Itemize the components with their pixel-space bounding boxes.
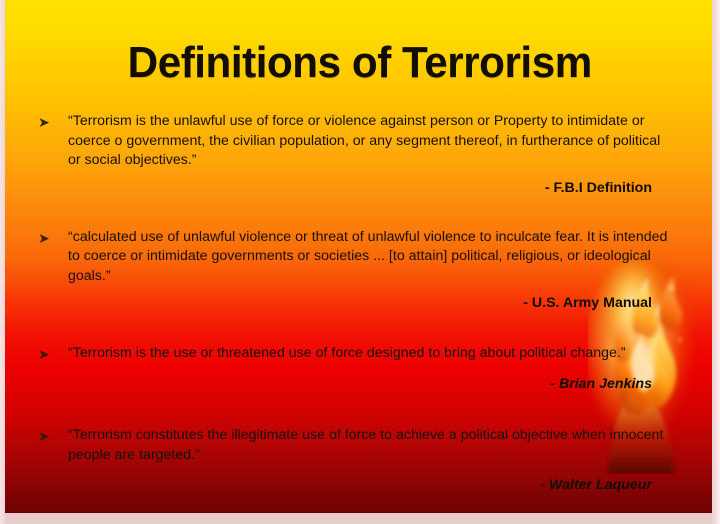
- bullet-arrow-icon: ➤: [38, 344, 68, 364]
- quote-attribution: - F.B.I Definition: [38, 179, 674, 198]
- bullet-arrow-icon: ➤: [38, 112, 68, 132]
- quote-attribution: - Walter Laqueur: [38, 476, 674, 495]
- quote-block: ➤ “Terrorism constitutes the illegitimat…: [38, 426, 674, 495]
- quote-row: ➤ “calculated use of unlawful violence o…: [38, 228, 674, 287]
- bullet-arrow-icon: ➤: [38, 228, 68, 248]
- slide-body: ➤ “Terrorism is the unlawful use of forc…: [38, 112, 674, 497]
- quote-row: ➤ “Terrorism constitutes the illegitimat…: [38, 426, 674, 465]
- quote-block: ➤ “Terrorism is the use or threatened us…: [38, 344, 674, 394]
- quote-row: ➤ “Terrorism is the unlawful use of forc…: [38, 112, 674, 171]
- quote-text: “calculated use of unlawful violence or …: [68, 228, 674, 287]
- quote-attribution: - Brian Jenkins: [38, 375, 674, 394]
- bullet-arrow-icon: ➤: [38, 426, 68, 446]
- quote-row: ➤ “Terrorism is the use or threatened us…: [38, 344, 674, 364]
- quote-block: ➤ “calculated use of unlawful violence o…: [38, 228, 674, 314]
- quote-text: “Terrorism constitutes the illegitimate …: [68, 426, 674, 465]
- quote-text: “Terrorism is the unlawful use of force …: [68, 112, 674, 171]
- quote-text: “Terrorism is the use or threatened use …: [68, 344, 674, 364]
- quote-attribution: - U.S. Army Manual: [38, 294, 674, 313]
- presentation-slide: Definitions of Terrorism ➤ “Terrorism is…: [0, 0, 720, 524]
- page-title: Definitions of Terrorism: [128, 38, 592, 88]
- slide-title-container: Definitions of Terrorism: [0, 38, 720, 88]
- quote-block: ➤ “Terrorism is the unlawful use of forc…: [38, 112, 674, 198]
